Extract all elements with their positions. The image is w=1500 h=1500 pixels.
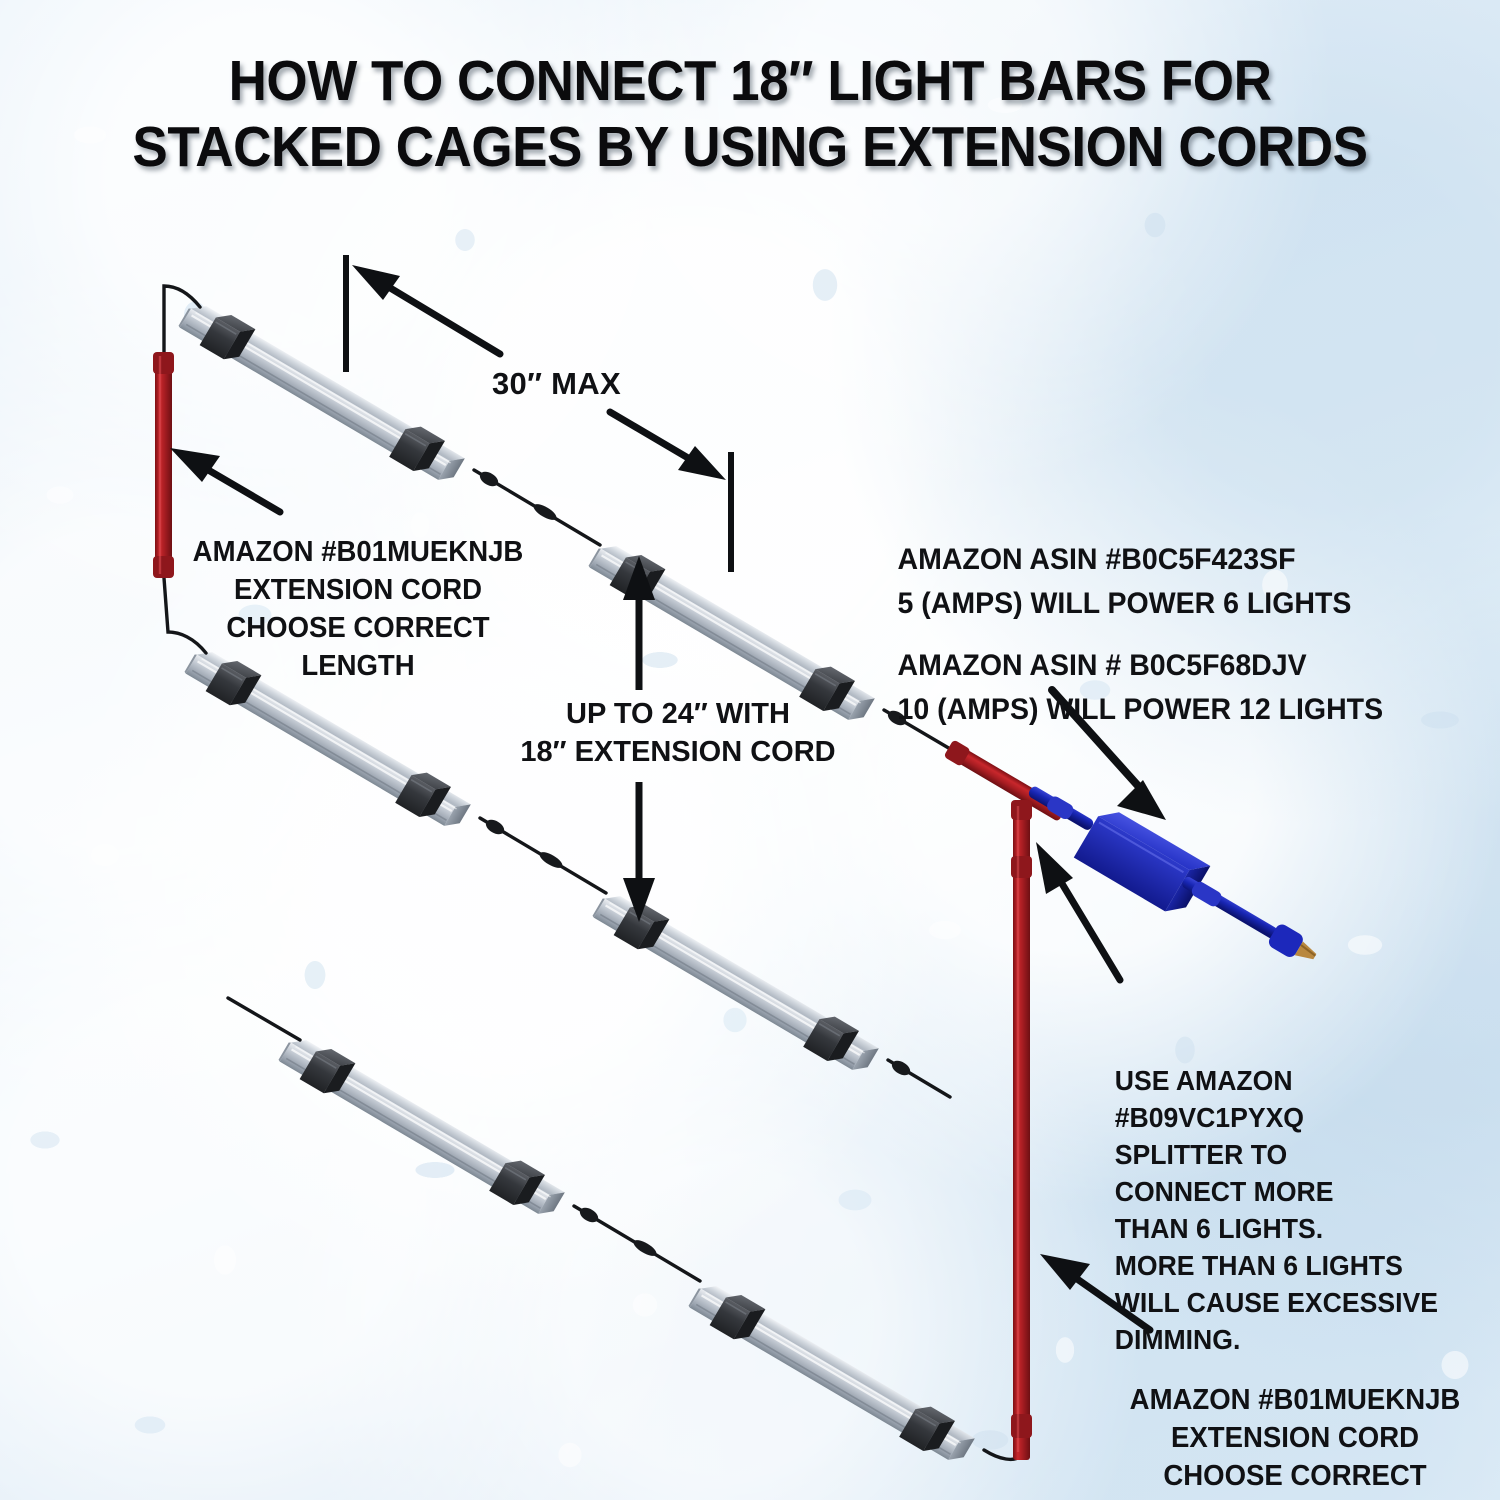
cable-bar4-out <box>888 1058 950 1097</box>
annotation-dimension-24: UP TO 24″ WITH 18″ EXTENSION CORD <box>508 695 848 771</box>
annotation-splitter-warning: USE AMAZON #B09VC1PYXQ SPLITTER TO CONNE… <box>1115 1062 1486 1358</box>
leader-arrow-left-cord <box>170 448 280 512</box>
annotation-asin-block: AMAZON ASIN #B0C5F423SF 5 (AMPS) WILL PO… <box>898 494 1411 776</box>
page-title: HOW TO CONNECT 18″ LIGHT BARS FOR STACKE… <box>53 48 1448 180</box>
annotation-left-extension-cord: AMAZON #B01MUEKNJB EXTENSION CORD CHOOSE… <box>178 533 539 685</box>
annotation-dimension-30-max: 30″ MAX <box>492 364 621 404</box>
annotation-asin-10amp: AMAZON ASIN # B0C5F68DJV 10 (AMPS) WILL … <box>898 644 1411 732</box>
extension-cord-left <box>153 352 174 578</box>
cable-bar3-out <box>480 817 606 893</box>
annotation-bottom-extension-cord: AMAZON #B01MUEKNJB EXTENSION CORD CHOOSE… <box>1105 1381 1485 1500</box>
infographic-canvas: HOW TO CONNECT 18″ LIGHT BARS FOR STACKE… <box>0 0 1500 1500</box>
light-bar-6 <box>685 1275 977 1471</box>
cable-bar5-out <box>574 1205 700 1281</box>
light-bar-1 <box>175 295 467 491</box>
light-bar-5 <box>275 1029 567 1225</box>
cable-bar5-in <box>228 998 300 1040</box>
light-bar-4 <box>589 885 881 1081</box>
splitter-red-tee <box>943 739 1067 1460</box>
dimension-30-marker <box>346 255 731 572</box>
annotation-asin-5amp: AMAZON ASIN #B0C5F423SF 5 (AMPS) WILL PO… <box>898 543 1352 620</box>
